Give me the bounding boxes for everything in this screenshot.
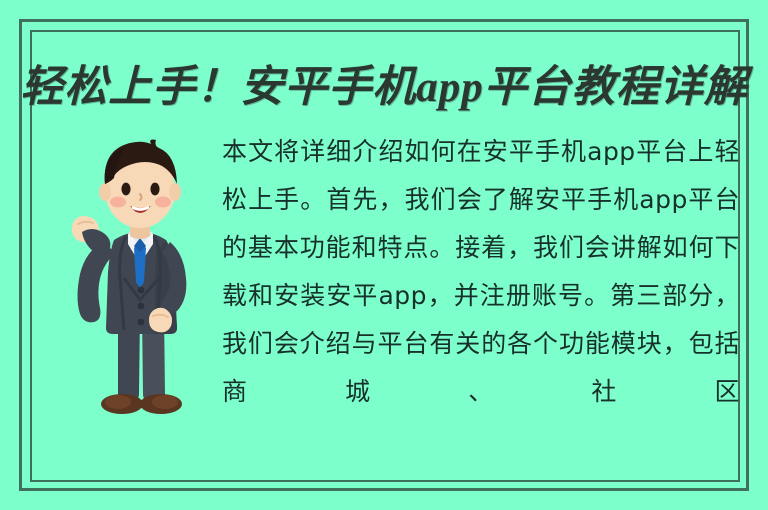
poster-title: 轻松上手！安平手机app平台教程详解 [34,52,734,114]
poster-canvas: 轻松上手！安平手机app平台教程详解 [0,0,768,510]
businessman-illustration [58,132,218,422]
poster-body-text: 本文将详细介绍如何在安平手机app平台上轻松上手。首先，我们会了解安平手机app… [222,128,740,418]
